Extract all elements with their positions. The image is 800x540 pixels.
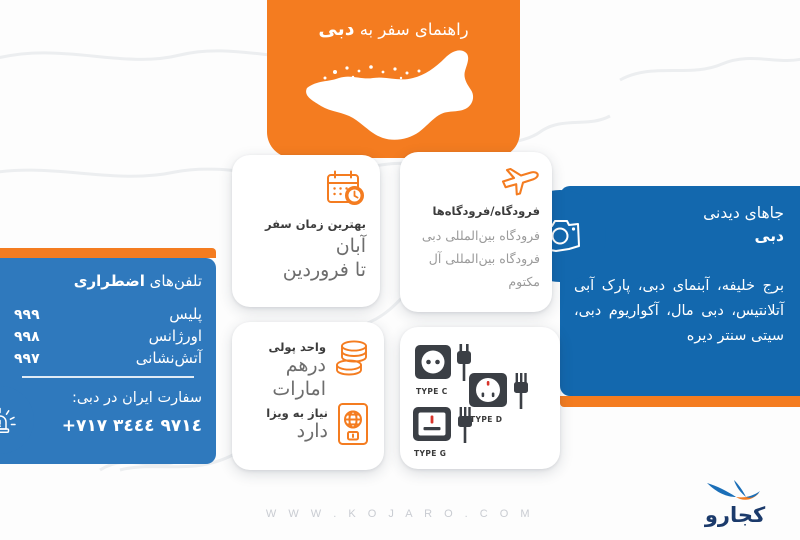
best-time-label: بهترین زمان سفر (242, 217, 366, 231)
card-currency-visa: واحد پولی درهم امارات نیاز به ویزا دارد (232, 322, 384, 470)
emergency-divider (22, 376, 194, 378)
airports-list: فرودگاه بین‌المللی دبی فرودگاه بین‌الملل… (410, 224, 540, 293)
card-airports: فرودگاه/فرودگاه‌ها فرودگاه بین‌المللی دب… (400, 152, 552, 312)
emergency-label-ambulance: اورژانس (149, 326, 202, 347)
emergency-panel-orange-stripe (0, 248, 216, 258)
airports-label: فرودگاه/فرودگاه‌ها (408, 204, 540, 218)
page-title-strong: دبی (318, 18, 354, 40)
currency-label: واحد پولی (240, 340, 326, 354)
header-banner: راهنمای سفر به دبی (267, 0, 520, 158)
sights-panel-orange-stripe (560, 396, 800, 407)
emergency-number-fire: ٩٩٧ (14, 350, 40, 370)
socket-type-c-icon: TYPE C (414, 341, 476, 385)
socket-type-g-icon: TYPE G (412, 403, 478, 447)
visa-label: نیاز به ویزا (240, 406, 328, 420)
emergency-number-list: پلیس ٩٩٩ اورژانس ٩٩٨ آتش‌نشانی ٩٩٧ (14, 304, 202, 370)
emergency-label-fire: آتش‌نشانی (136, 348, 202, 369)
emergency-label-police: پلیس (169, 304, 202, 325)
passport-icon (336, 402, 370, 446)
emergency-title-strong: اضطراری (74, 272, 145, 290)
emergency-number-police: ٩٩٩ (14, 306, 40, 326)
best-time-value: آبان تا فروردین (242, 235, 366, 283)
coins-icon (332, 338, 372, 376)
visa-value: دارد (238, 420, 328, 444)
uae-map-icon (295, 44, 495, 152)
emergency-row-fire: آتش‌نشانی ٩٩٧ (14, 348, 202, 370)
plug-caption-type-c: TYPE C (416, 387, 448, 396)
emergency-panel-title: تلفن‌های اضطراری (14, 272, 202, 290)
sights-title-line1: جاهای دیدنی (703, 204, 784, 222)
emergency-row-ambulance: اورژانس ٩٩٨ (14, 326, 202, 348)
emergency-number-ambulance: ٩٩٨ (14, 328, 40, 348)
airplane-icon (500, 164, 540, 196)
embassy-phone-number: +٩٧١٤ ٣٤٤٤ ٧١٧ (14, 416, 202, 436)
emergency-title-prefix: تلفن‌های (145, 272, 202, 290)
emergency-row-police: پلیس ٩٩٩ (14, 304, 202, 326)
page-title-prefix: راهنمای سفر به (354, 20, 468, 39)
embassy-label: سفارت ایران در دبی: (14, 390, 202, 406)
calendar-clock-icon (326, 169, 366, 207)
infographic-canvas: راهنمای سفر به دبی تلفن‌های اضطراری (0, 0, 800, 540)
brand-logo[interactable]: کجارو (684, 478, 786, 530)
currency-value: درهم امارات (238, 354, 326, 402)
sights-panel-title: جاهای دیدنی دبی (640, 202, 784, 249)
swallow-bird-icon (703, 478, 767, 504)
plug-caption-type-g: TYPE G (414, 449, 446, 458)
footer-website-url: W W W . K O J A R O . C O M (0, 508, 800, 520)
sights-title-line2: دبی (640, 225, 784, 248)
card-best-travel-time: بهترین زمان سفر آبان تا فروردین (232, 155, 380, 307)
page-title: راهنمای سفر به دبی (267, 18, 520, 40)
brand-logo-text: کجارو (684, 505, 786, 526)
sights-list: برج خلیفه، آبنمای دبی، پارک آبی آتلانتیس… (574, 274, 784, 349)
card-plug-types: TYPE C TYPE D (400, 327, 560, 469)
emergency-panel: تلفن‌های اضطراری پلیس ٩٩٩ اورژانس ٩٩٨ آت… (0, 258, 216, 464)
sights-panel: جاهای دیدنی دبی برج خلیفه، آبنمای دبی، پ… (560, 186, 800, 396)
